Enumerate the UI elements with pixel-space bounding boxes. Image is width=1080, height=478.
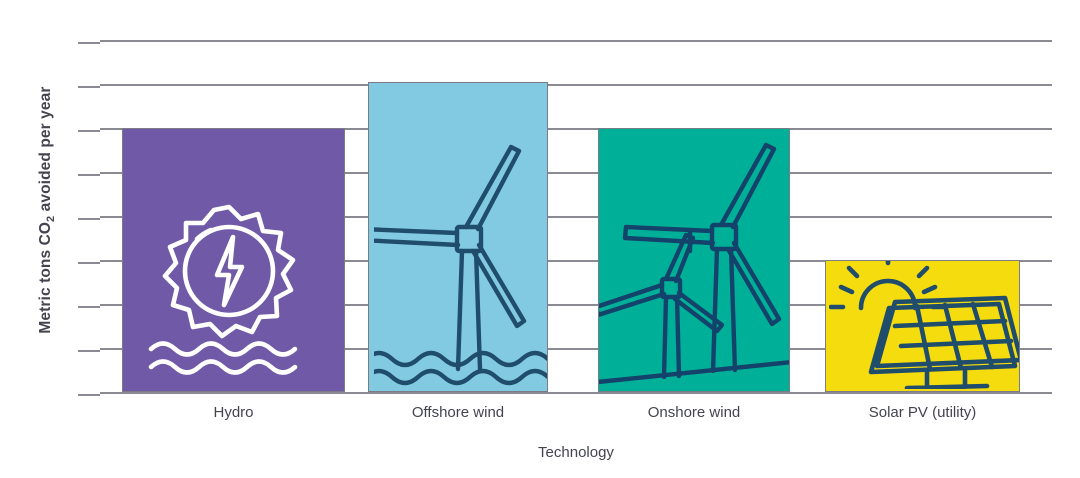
offshore-wind-turbine-icon xyxy=(374,141,548,391)
x-axis-tick-label: Onshore wind xyxy=(598,404,790,421)
x-axis-tick-label: Hydro xyxy=(122,404,345,421)
hydro-turbine-icon xyxy=(145,197,313,387)
y-axis-tick-mark xyxy=(78,306,100,308)
bar-slot xyxy=(122,40,345,392)
bar-slot xyxy=(825,40,1020,392)
bar-offshore-wind[interactable] xyxy=(368,82,548,392)
bar-onshore-wind[interactable] xyxy=(598,128,790,392)
y-axis-title-suffix: avoided per year xyxy=(37,87,54,216)
y-axis-tick-mark xyxy=(78,350,100,352)
solar-panel-icon xyxy=(829,260,1020,389)
bar-slot xyxy=(368,40,548,392)
bar-chart: Metric tons CO2 avoided per year 4.03.53… xyxy=(0,0,1080,478)
y-axis-title-subscript: 2 xyxy=(45,216,57,222)
x-axis-title: Technology xyxy=(100,444,1052,461)
y-axis-tick-mark xyxy=(78,174,100,176)
y-axis-tick-mark xyxy=(78,86,100,88)
x-axis-tick-label: Offshore wind xyxy=(368,404,548,421)
gridline: 0 xyxy=(100,392,1052,394)
bar-slot xyxy=(598,40,790,392)
y-axis-tick-mark xyxy=(78,394,100,396)
y-axis-title: Metric tons CO2 avoided per year xyxy=(37,45,57,375)
x-axis-tick-label: Solar PV (utility) xyxy=(825,404,1020,421)
y-axis-tick-mark xyxy=(78,42,100,44)
y-axis-tick-mark xyxy=(78,218,100,220)
bars-group xyxy=(100,40,1052,392)
onshore-wind-turbines-icon xyxy=(598,139,790,391)
y-axis-tick-mark xyxy=(78,130,100,132)
plot-area: 4.03.53.02.52.01.51.00.50 xyxy=(100,40,1052,392)
y-axis-tick-mark xyxy=(78,262,100,264)
y-axis-title-prefix: Metric tons CO xyxy=(37,222,54,334)
bar-solar-pv-utility[interactable] xyxy=(825,260,1020,392)
bar-hydro[interactable] xyxy=(122,128,345,392)
